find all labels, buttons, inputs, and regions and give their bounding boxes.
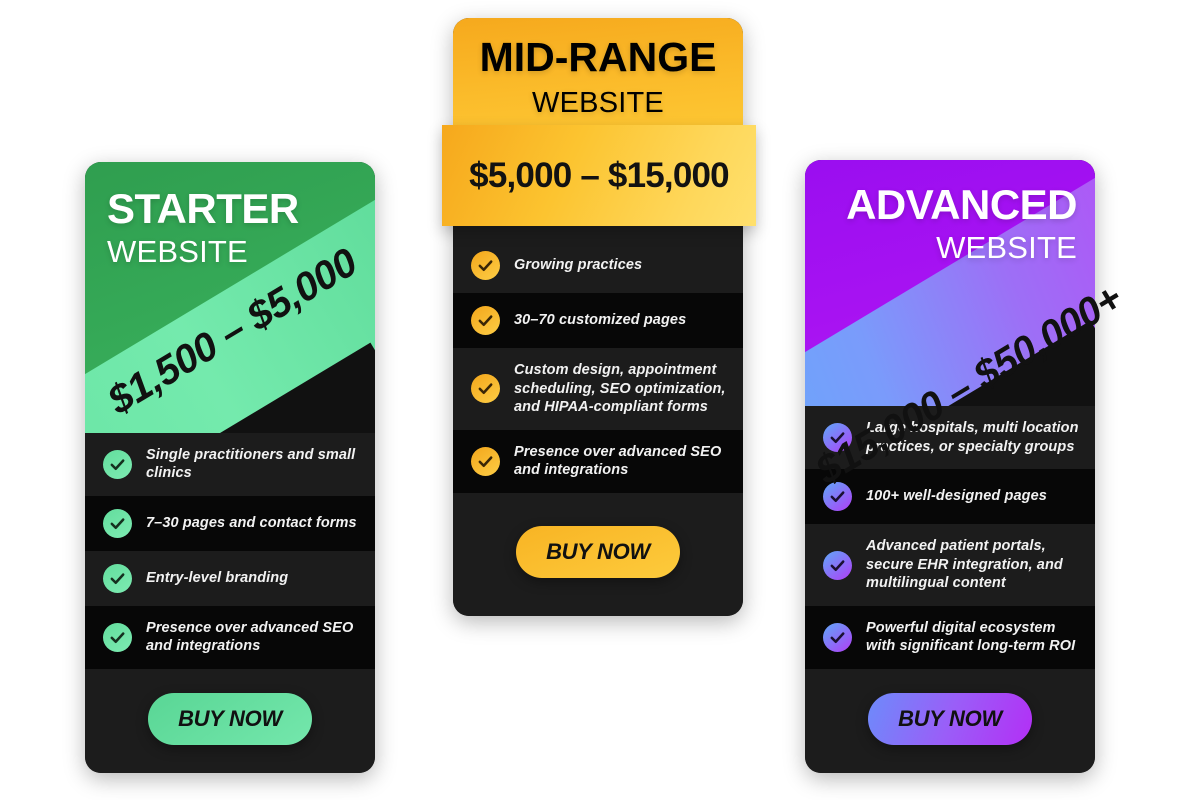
check-circle-icon: [471, 447, 500, 476]
plan-subtitle: WEBSITE: [453, 87, 743, 120]
buy-now-button[interactable]: BUY NOW: [868, 693, 1032, 745]
feature-row: Growing practices: [453, 238, 743, 293]
feature-row: Powerful digital ecosystem with signific…: [805, 606, 1095, 669]
feature-label: Custom design, appointment scheduling, S…: [514, 361, 727, 417]
plan-title-block: STARTER WEBSITE: [107, 188, 299, 267]
feature-label: Single practitioners and small clinics: [146, 446, 359, 483]
feature-label: Growing practices: [514, 256, 642, 275]
check-circle-icon: [471, 374, 500, 403]
check-circle-icon: [471, 306, 500, 335]
feature-list-mid-range: Growing practices 30–70 customized pages…: [453, 238, 743, 493]
cta-container: BUY NOW: [805, 669, 1095, 773]
cta-container: BUY NOW: [453, 493, 743, 616]
plan-name: ADVANCED: [846, 184, 1077, 226]
feature-row: 7–30 pages and contact forms: [85, 496, 375, 551]
feature-label: Presence over advanced SEO and integrati…: [146, 619, 359, 656]
pricing-cards-stage: STARTER WEBSITE Single practitioners and…: [0, 0, 1200, 800]
pricing-card-mid-range[interactable]: MID-RANGE WEBSITE Growing practices 30–7…: [453, 18, 743, 616]
check-circle-icon: [103, 623, 132, 652]
feature-row: Entry-level branding: [85, 551, 375, 606]
plan-subtitle: WEBSITE: [846, 232, 1077, 263]
check-circle-icon: [823, 551, 852, 580]
feature-row: 30–70 customized pages: [453, 293, 743, 348]
feature-label: 30–70 customized pages: [514, 311, 686, 330]
check-circle-icon: [471, 251, 500, 280]
feature-label: Powerful digital ecosystem with signific…: [866, 619, 1079, 656]
price-ribbon: $5,000 – $15,000: [442, 125, 756, 226]
feature-label: Presence over advanced SEO and integrati…: [514, 443, 727, 480]
feature-label: 7–30 pages and contact forms: [146, 514, 357, 533]
check-circle-icon: [103, 564, 132, 593]
feature-list-starter: Single practitioners and small clinics 7…: [85, 433, 375, 669]
feature-label: 100+ well-designed pages: [866, 487, 1047, 506]
feature-row: Custom design, appointment scheduling, S…: [453, 348, 743, 430]
feature-label: Entry-level branding: [146, 569, 288, 588]
plan-subtitle: WEBSITE: [107, 236, 299, 267]
check-circle-icon: [103, 509, 132, 538]
plan-name: MID-RANGE: [453, 34, 743, 81]
feature-label: Advanced patient portals, secure EHR int…: [866, 537, 1079, 593]
feature-row: Presence over advanced SEO and integrati…: [85, 606, 375, 669]
feature-row: Single practitioners and small clinics: [85, 433, 375, 496]
feature-row: Presence over advanced SEO and integrati…: [453, 430, 743, 493]
plan-title-block: ADVANCED WEBSITE: [846, 184, 1077, 263]
feature-row: Advanced patient portals, secure EHR int…: [805, 524, 1095, 606]
check-circle-icon: [823, 623, 852, 652]
price-label: $5,000 – $15,000: [469, 156, 729, 196]
check-circle-icon: [103, 450, 132, 479]
plan-name: STARTER: [107, 188, 299, 230]
buy-now-button[interactable]: BUY NOW: [516, 526, 680, 578]
buy-now-button[interactable]: BUY NOW: [148, 693, 312, 745]
cta-container: BUY NOW: [85, 669, 375, 773]
card-header-mid-range: MID-RANGE WEBSITE: [453, 18, 743, 128]
